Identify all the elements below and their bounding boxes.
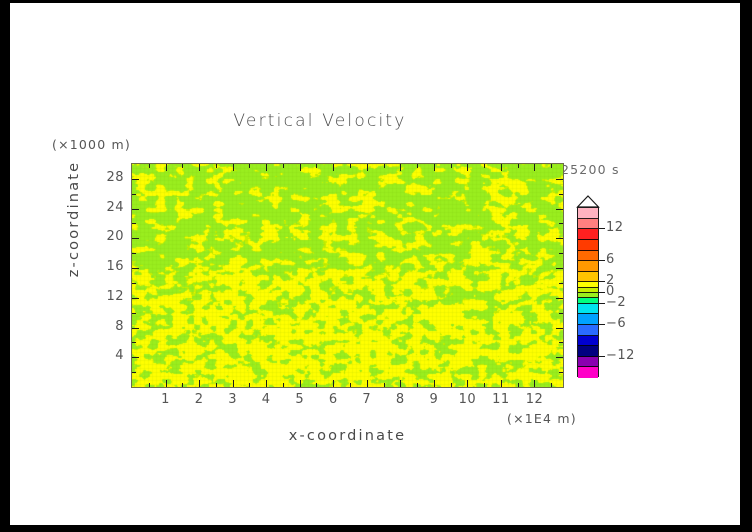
y-tick-label: 4 [92,348,124,363]
axis-tick [283,383,284,387]
axis-tick [132,268,139,269]
colorbar-band [578,346,598,357]
axis-tick [559,253,563,254]
colorbar-band [578,314,598,325]
y-axis-unit-label: (×1000 m) [52,137,131,152]
axis-tick [400,164,401,171]
axis-tick [556,328,563,329]
axis-tick [451,164,452,168]
colorbar-band [578,261,598,272]
y-axis-title: z-coordinate [66,149,82,289]
axis-tick [132,372,136,373]
axis-tick [149,383,150,387]
axis-tick [556,268,563,269]
axis-tick [467,380,468,387]
axis-tick [132,342,136,343]
colorbar-gradient-bar [577,207,599,377]
axis-tick [559,313,563,314]
axis-tick [556,357,563,358]
colorbar-label: 12 [606,220,624,235]
axis-tick [556,179,563,180]
colorbar-tick [599,260,605,261]
axis-tick [316,164,317,168]
axis-tick [501,164,502,171]
axis-tick [199,380,200,387]
velocity-field-heatmap [132,164,563,387]
axis-tick [501,380,502,387]
colorbar-tick [599,228,605,229]
axis-tick [216,383,217,387]
y-tick-label: 16 [92,259,124,274]
axis-tick [300,380,301,387]
figure-page: Vertical Velocity (×1000 m) 25200 s 1234… [10,3,740,525]
colorbar[interactable]: 12620−2−6−12 [576,195,656,385]
colorbar-band [578,251,598,262]
axis-tick [434,380,435,387]
y-tick-label: 8 [92,319,124,334]
axis-tick [166,380,167,387]
x-axis-unit-label: (×1E4 m) [507,411,577,426]
axis-tick [333,164,334,171]
axis-tick [182,164,183,168]
axis-tick [417,164,418,168]
axis-tick [216,164,217,168]
axis-tick [484,383,485,387]
x-axis-title: x-coordinate [131,428,564,444]
x-tick-label: 12 [514,392,554,407]
axis-tick [233,380,234,387]
colorbar-band [578,304,598,315]
axis-tick [534,164,535,171]
axis-tick [132,298,139,299]
axis-tick [559,342,563,343]
time-annotation: 25200 s [561,162,620,177]
colorbar-band [578,229,598,240]
page-title: Vertical Velocity [10,111,630,131]
axis-tick [149,164,150,168]
axis-tick [518,383,519,387]
axis-tick [518,164,519,168]
colorbar-label: 6 [606,252,615,267]
colorbar-tick [599,292,605,293]
colorbar-tick [599,281,605,282]
axis-tick [350,383,351,387]
screenshot-canvas: Vertical Velocity (×1000 m) 25200 s 1234… [0,0,752,532]
plot-area[interactable] [131,163,564,388]
axis-tick [199,164,200,171]
colorbar-band [578,219,598,230]
axis-tick [384,164,385,168]
colorbar-band [578,240,598,251]
axis-tick [132,179,139,180]
axis-tick [233,164,234,171]
axis-tick [132,283,136,284]
axis-tick [300,164,301,171]
colorbar-tick [599,303,605,304]
axis-tick [559,194,563,195]
axis-tick [556,298,563,299]
axis-tick [400,380,401,387]
axis-tick [132,328,139,329]
colorbar-label: −12 [606,348,635,363]
axis-tick [559,223,563,224]
axis-tick [350,164,351,168]
axis-tick [556,209,563,210]
axis-tick [384,383,385,387]
axis-tick [559,283,563,284]
axis-tick [333,380,334,387]
colorbar-tick [599,356,605,357]
axis-tick [132,194,136,195]
axis-tick [367,164,368,171]
colorbar-band [578,325,598,336]
axis-tick [132,357,139,358]
axis-tick [484,164,485,168]
axis-tick [451,383,452,387]
y-tick-label: 24 [92,200,124,215]
axis-tick [551,383,552,387]
axis-tick [249,164,250,168]
axis-tick [249,383,250,387]
axis-tick [266,164,267,171]
colorbar-label: −2 [606,295,626,310]
axis-tick [132,253,136,254]
axis-tick [283,164,284,168]
axis-tick [316,383,317,387]
colorbar-band [578,208,598,219]
axis-tick [534,380,535,387]
axis-tick [132,223,136,224]
axis-tick [556,238,563,239]
colorbar-band [578,367,598,378]
axis-tick [551,164,552,168]
y-tick-label: 20 [92,229,124,244]
colorbar-band [578,272,598,283]
axis-tick [266,380,267,387]
axis-tick [559,372,563,373]
axis-tick [132,238,139,239]
colorbar-band [578,357,598,368]
axis-tick [166,164,167,171]
y-tick-label: 12 [92,289,124,304]
axis-tick [132,313,136,314]
colorbar-band [578,336,598,347]
axis-tick [434,164,435,171]
colorbar-label: −6 [606,316,626,331]
axis-tick [367,380,368,387]
axis-tick [132,209,139,210]
axis-tick [182,383,183,387]
axis-tick [417,383,418,387]
axis-tick [467,164,468,171]
y-tick-label: 28 [92,170,124,185]
colorbar-tick [599,324,605,325]
